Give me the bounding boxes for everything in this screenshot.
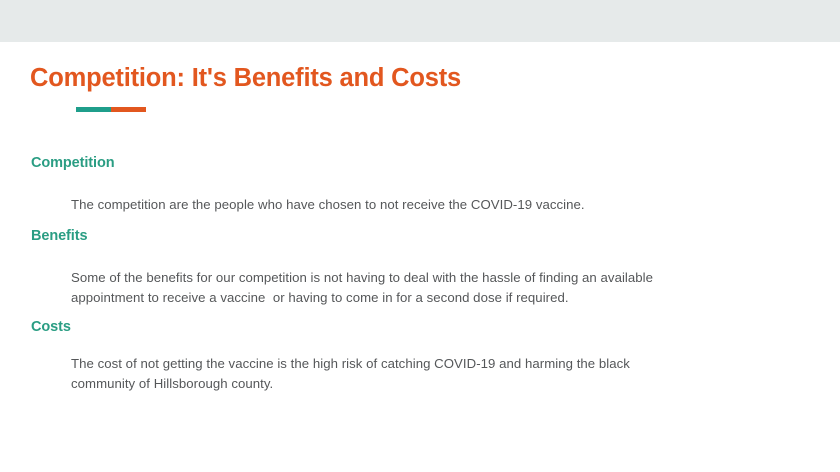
title-divider-bar [76,107,146,112]
section-body-competition: The competition are the people who have … [71,195,771,215]
section-body-benefits: Some of the benefits for our competition… [71,268,719,307]
slide-title: Competition: It's Benefits and Costs [30,64,461,93]
divider-segment-orange [111,107,146,112]
section-heading-competition: Competition [31,155,114,171]
top-banner-bar [0,0,840,42]
section-heading-costs: Costs [31,319,71,335]
divider-segment-teal [76,107,111,112]
presentation-slide: Competition: It's Benefits and Costs Com… [0,0,840,472]
section-body-costs: The cost of not getting the vaccine is t… [71,354,696,393]
section-heading-benefits: Benefits [31,228,87,244]
